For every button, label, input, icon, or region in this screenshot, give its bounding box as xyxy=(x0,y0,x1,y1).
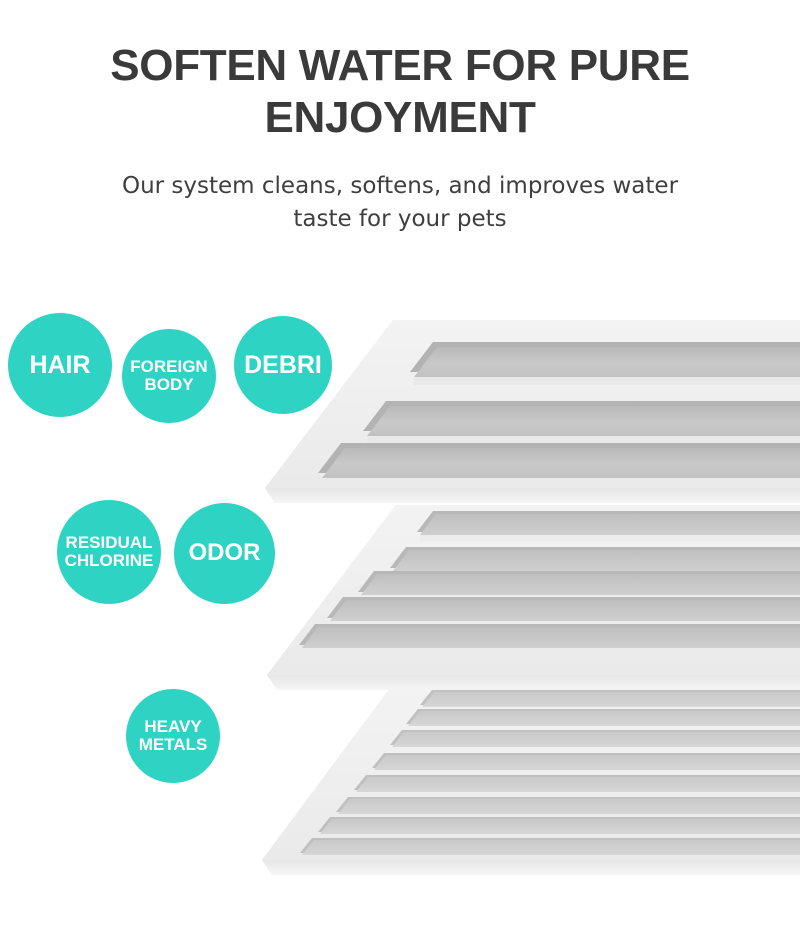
bubble-foreign-body-label: FOREIGN BODY xyxy=(122,358,216,393)
contaminant-bubbles: HAIR FOREIGN BODY DEBRI RESIDUAL CHLORIN… xyxy=(0,0,800,947)
bubble-heavy-metals: HEAVY METALS xyxy=(126,689,220,783)
bubble-hair-label: HAIR xyxy=(25,352,94,378)
bubble-odor-label: ODOR xyxy=(185,541,265,566)
bubble-heavy-metals-label: HEAVY METALS xyxy=(126,718,220,753)
bubble-debri-label: DEBRI xyxy=(240,352,326,378)
bubble-odor: ODOR xyxy=(174,503,275,604)
bubble-debri: DEBRI xyxy=(234,316,332,414)
bubble-residual-chlorine: RESIDUAL CHLORINE xyxy=(57,500,161,604)
bubble-foreign-body: FOREIGN BODY xyxy=(122,329,216,423)
promo-graphic: Soften water for pure enjoyment Our syst… xyxy=(0,0,800,947)
bubble-hair: HAIR xyxy=(8,313,112,417)
bubble-residual-chlorine-label: RESIDUAL CHLORINE xyxy=(57,534,161,569)
